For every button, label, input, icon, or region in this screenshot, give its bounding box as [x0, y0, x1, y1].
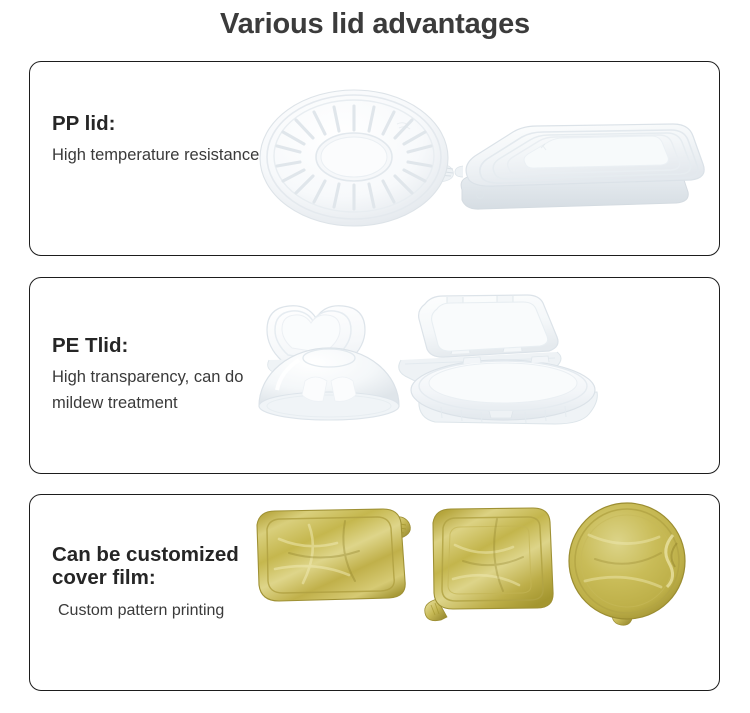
- panel-film-subtext: Custom pattern printing: [52, 598, 239, 624]
- panel-pe-heading: PE Tlid:: [52, 334, 243, 357]
- panel-pp-text-block: PP lid: High temperature resistance: [52, 112, 259, 168]
- panel-film-product-images: [249, 495, 719, 690]
- panel-pp-heading: PP lid:: [52, 112, 259, 135]
- panel-film-heading: Can be customized cover film:: [52, 543, 239, 589]
- heart-shaped-pe-lid-graphic: [267, 306, 365, 394]
- page-title: Various lid advantages: [0, 8, 750, 41]
- panel-pe-lid: PE Tlid: High transparency, can do milde…: [29, 277, 720, 474]
- dome-pe-lid-graphic: [259, 348, 399, 420]
- panel-pp-subtext: High temperature resistance: [52, 142, 259, 168]
- square-pe-lid-graphic: [399, 295, 561, 387]
- panel-pe-product-images: [249, 278, 719, 473]
- round-ribbed-pp-lid-graphic: [260, 90, 453, 226]
- gold-square-cover-film-graphic: [425, 508, 553, 621]
- rectangular-pp-lid-graphic: [455, 124, 704, 209]
- gold-round-cover-film-graphic: [569, 503, 685, 625]
- panel-pe-subtext: High transparency, can do mildew treatme…: [52, 364, 243, 416]
- panel-pp-lid: PP lid: High temperature resistance: [29, 61, 720, 256]
- oval-pe-lid-graphic: [411, 356, 597, 424]
- panel-film-text-block: Can be customized cover film: Custom pat…: [52, 543, 239, 624]
- panel-pe-text-block: PE Tlid: High transparency, can do milde…: [52, 334, 243, 416]
- panel-pp-product-images: [249, 62, 719, 255]
- gold-rectangular-cover-film-graphic: [257, 509, 410, 601]
- panel-cover-film: Can be customized cover film: Custom pat…: [29, 494, 720, 691]
